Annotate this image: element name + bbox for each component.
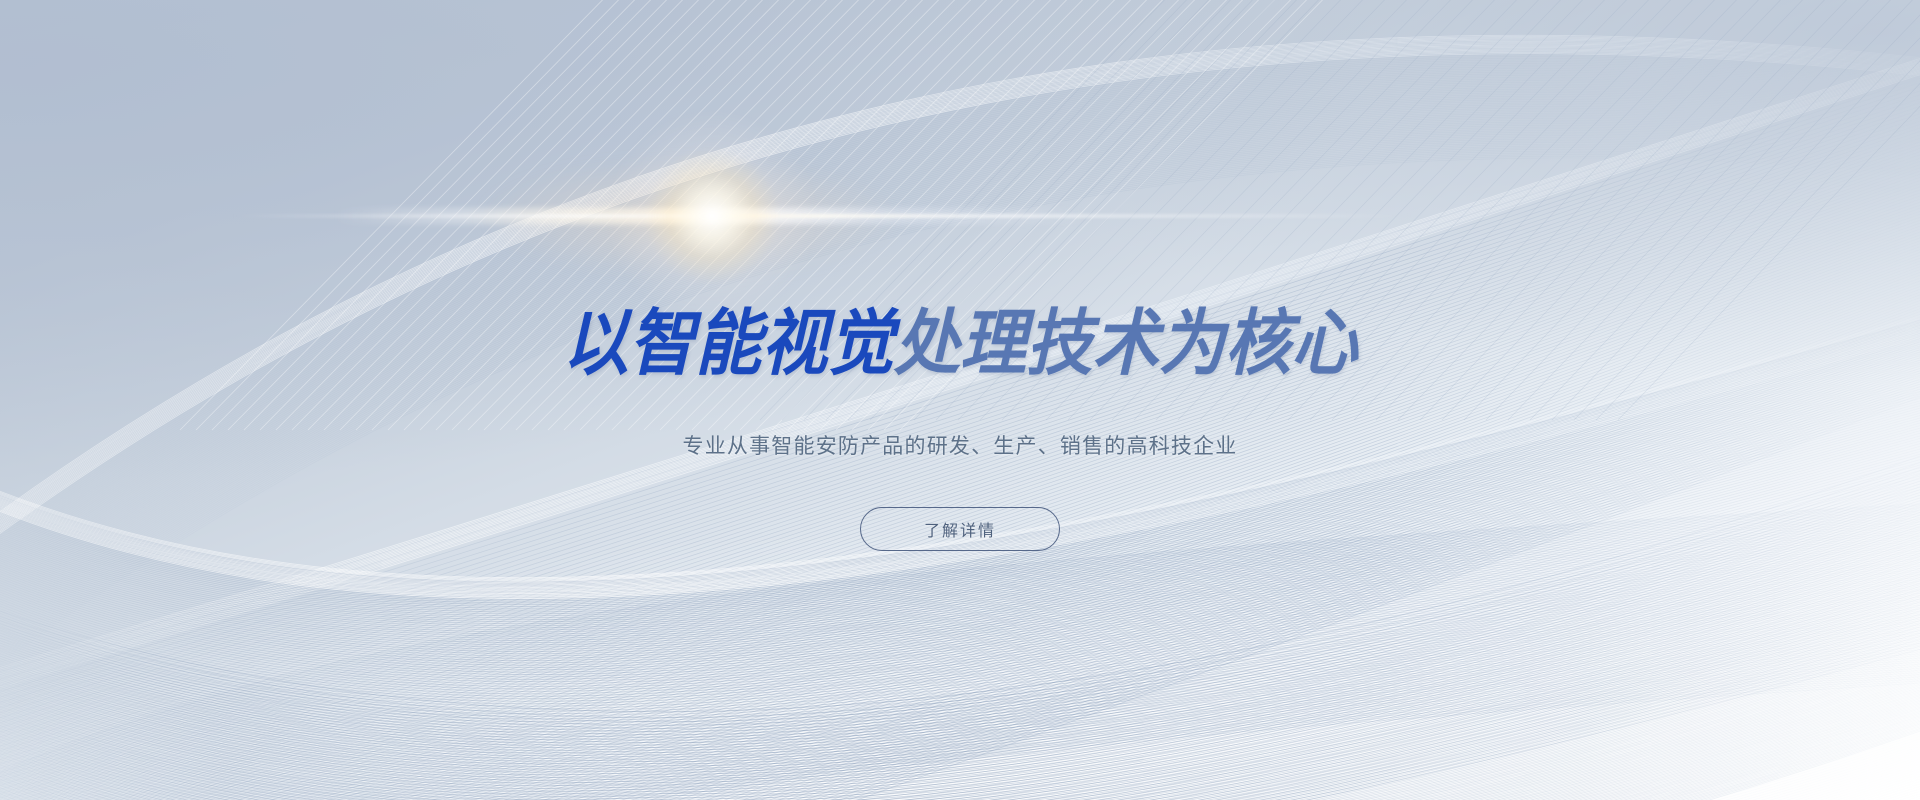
hero-subtitle: 专业从事智能安防产品的研发、生产、销售的高科技企业 (0, 432, 1920, 461)
cta-container: 了解详情 (0, 507, 1920, 551)
headline-segment-primary: 以智能视觉 (563, 304, 894, 384)
headline-segment-secondary: 处理技术为核心 (894, 304, 1358, 384)
hero-banner: 以智能视觉处理技术为核心 专业从事智能安防产品的研发、生产、销售的高科技企业 了… (0, 0, 1920, 800)
page-title: 以智能视觉处理技术为核心 (77, 308, 1843, 380)
learn-more-button[interactable]: 了解详情 (860, 507, 1060, 551)
hero-content: 以智能视觉处理技术为核心 专业从事智能安防产品的研发、生产、销售的高科技企业 了… (0, 0, 1920, 800)
